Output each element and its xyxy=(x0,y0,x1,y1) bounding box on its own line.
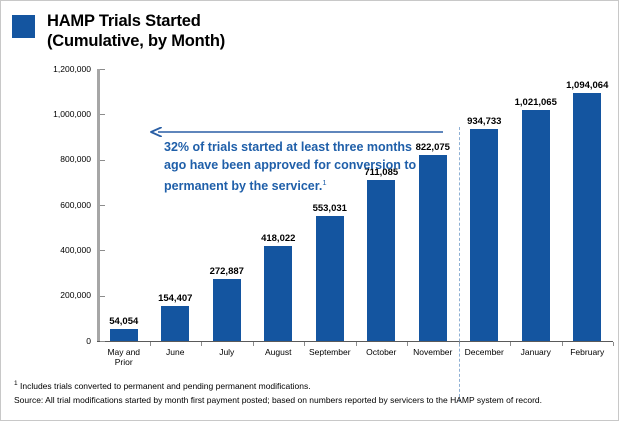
footnote-1-text: Includes trials converted to permanent a… xyxy=(18,381,311,391)
bar-value-label: 553,031 xyxy=(291,203,369,214)
bar xyxy=(110,329,138,341)
x-axis-category-label: February xyxy=(548,347,619,357)
bar-chart: 1,200,0001,000,000800,000600,000400,0002… xyxy=(1,61,619,371)
x-axis-tick-mark xyxy=(356,342,357,346)
annotation-text: 32% of trials started at least three mon… xyxy=(164,139,424,196)
bar-value-label: 934,733 xyxy=(445,116,523,127)
bar xyxy=(522,110,550,341)
chart-page: HAMP Trials Started (Cumulative, by Mont… xyxy=(0,0,619,421)
bar xyxy=(470,129,498,341)
bar-value-label: 418,022 xyxy=(239,233,317,244)
x-axis-tick-mark xyxy=(253,342,254,346)
bar-value-label: 154,407 xyxy=(136,293,214,304)
x-axis-category-label-line: Prior xyxy=(85,357,163,367)
bar-value-label: 1,094,064 xyxy=(548,80,619,91)
x-axis-tick-mark xyxy=(150,342,151,346)
bar-value-label: 1,021,065 xyxy=(497,97,575,108)
bar-value-label: 272,887 xyxy=(188,266,266,277)
page-title: HAMP Trials Started (Cumulative, by Mont… xyxy=(47,11,467,51)
bar xyxy=(573,93,601,341)
annotation-arrow-icon xyxy=(149,127,444,137)
x-axis-category-label-line: February xyxy=(548,347,619,357)
title-line-1: HAMP Trials Started xyxy=(47,11,467,31)
bars-layer: 54,054154,407272,887418,022553,031711,08… xyxy=(1,61,619,341)
x-axis-tick-mark xyxy=(407,342,408,346)
footnote-1: 1 Includes trials converted to permanent… xyxy=(14,378,610,392)
bar xyxy=(264,246,292,341)
bar-value-label: 54,054 xyxy=(85,316,163,327)
bar xyxy=(161,306,189,341)
x-axis-tick-mark xyxy=(510,342,511,346)
y-axis-tick-mark xyxy=(100,341,105,342)
annotation-percent: 32% xyxy=(164,140,189,154)
title-line-2: (Cumulative, by Month) xyxy=(47,31,467,51)
period-divider-line xyxy=(459,127,460,402)
annotation-body: of trials started at least three months … xyxy=(164,140,416,193)
bar xyxy=(367,180,395,341)
bar xyxy=(213,279,241,341)
footnote-source: Source: All trial modifications started … xyxy=(14,395,610,407)
x-axis-tick-mark xyxy=(562,342,563,346)
annotation-superscript: 1 xyxy=(322,178,326,187)
x-axis-tick-mark xyxy=(613,342,614,346)
x-axis-tick-mark xyxy=(201,342,202,346)
x-axis-tick-mark xyxy=(304,342,305,346)
bar xyxy=(316,216,344,341)
title-color-swatch xyxy=(12,15,35,38)
